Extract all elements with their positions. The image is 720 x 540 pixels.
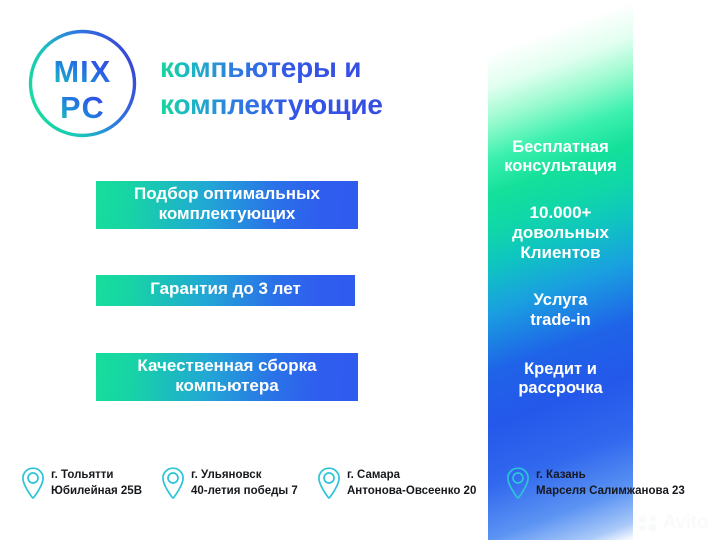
store-locations-bar: г. Тольятти Юбилейная 25В г. Ульяновск 4… — [0, 458, 720, 514]
page-title: компьютеры и комплектующие — [160, 50, 480, 124]
mixpc-circle-logo-icon: MIX PC — [26, 27, 139, 140]
page-title-line-2: комплектующие — [160, 87, 480, 124]
benefit-line: рассрочка — [492, 379, 629, 398]
feature-badge-optimal-parts: Подбор оптимальных комплектующих — [96, 181, 358, 229]
feature-line: комплектующих — [134, 204, 320, 224]
location-street: Антонова-Овсеенко 20 — [347, 483, 476, 499]
avito-logo-icon — [638, 514, 660, 532]
avito-watermark: Avito — [638, 513, 708, 532]
location-city: г. Самара — [347, 467, 476, 483]
map-pin-icon — [160, 466, 186, 500]
location-street: Марселя Салимжанова 23 — [536, 483, 685, 499]
location-address: г. Казань Марселя Салимжанова 23 — [536, 467, 685, 500]
map-pin-icon — [316, 466, 342, 500]
svg-text:MIX: MIX — [54, 55, 112, 89]
location-item-ulyanovsk: г. Ульяновск 40-летия победы 7 — [160, 466, 298, 500]
benefit-line: trade-in — [492, 311, 629, 330]
map-pin-icon — [505, 466, 531, 500]
location-address: г. Самара Антонова-Овсеенко 20 — [347, 467, 476, 500]
location-address: г. Тольятти Юбилейная 25В — [51, 467, 142, 500]
svg-text:PC: PC — [60, 91, 105, 125]
location-item-kazan: г. Казань Марселя Салимжанова 23 — [505, 466, 685, 500]
benefit-line: 10.000+ — [492, 203, 629, 223]
feature-line: Качественная сборка — [137, 356, 316, 376]
benefit-line: Клиентов — [492, 243, 629, 263]
benefit-item-credit: Кредит и рассрочка — [488, 360, 633, 399]
feature-badge-quality-build: Качественная сборка компьютера — [96, 353, 358, 401]
benefit-line: Бесплатная — [492, 138, 629, 157]
feature-line: компьютера — [137, 376, 316, 396]
benefit-line: довольных — [492, 223, 629, 243]
feature-badge-warranty: Гарантия до 3 лет — [96, 275, 355, 306]
location-city: г. Казань — [536, 467, 685, 483]
feature-line: Гарантия до 3 лет — [150, 279, 301, 299]
location-item-samara: г. Самара Антонова-Овсеенко 20 — [316, 466, 476, 500]
benefit-line: Кредит и — [492, 360, 629, 379]
page-title-line-1: компьютеры и — [160, 50, 480, 87]
avito-wordmark: Avito — [663, 513, 708, 532]
location-address: г. Ульяновск 40-летия победы 7 — [191, 467, 298, 500]
benefit-item-clients: 10.000+ довольных Клиентов — [488, 203, 633, 263]
location-item-tolyatti: г. Тольятти Юбилейная 25В — [20, 466, 142, 500]
benefit-item-trade-in: Услуга trade-in — [488, 291, 633, 330]
location-city: г. Тольятти — [51, 467, 142, 483]
benefit-item-consultation: Бесплатная консультация — [488, 138, 633, 177]
map-pin-icon — [20, 466, 46, 500]
benefit-line: консультация — [492, 157, 629, 176]
location-street: 40-летия победы 7 — [191, 483, 298, 499]
location-street: Юбилейная 25В — [51, 483, 142, 499]
location-city: г. Ульяновск — [191, 467, 298, 483]
benefit-line: Услуга — [492, 291, 629, 310]
feature-line: Подбор оптимальных — [134, 184, 320, 204]
